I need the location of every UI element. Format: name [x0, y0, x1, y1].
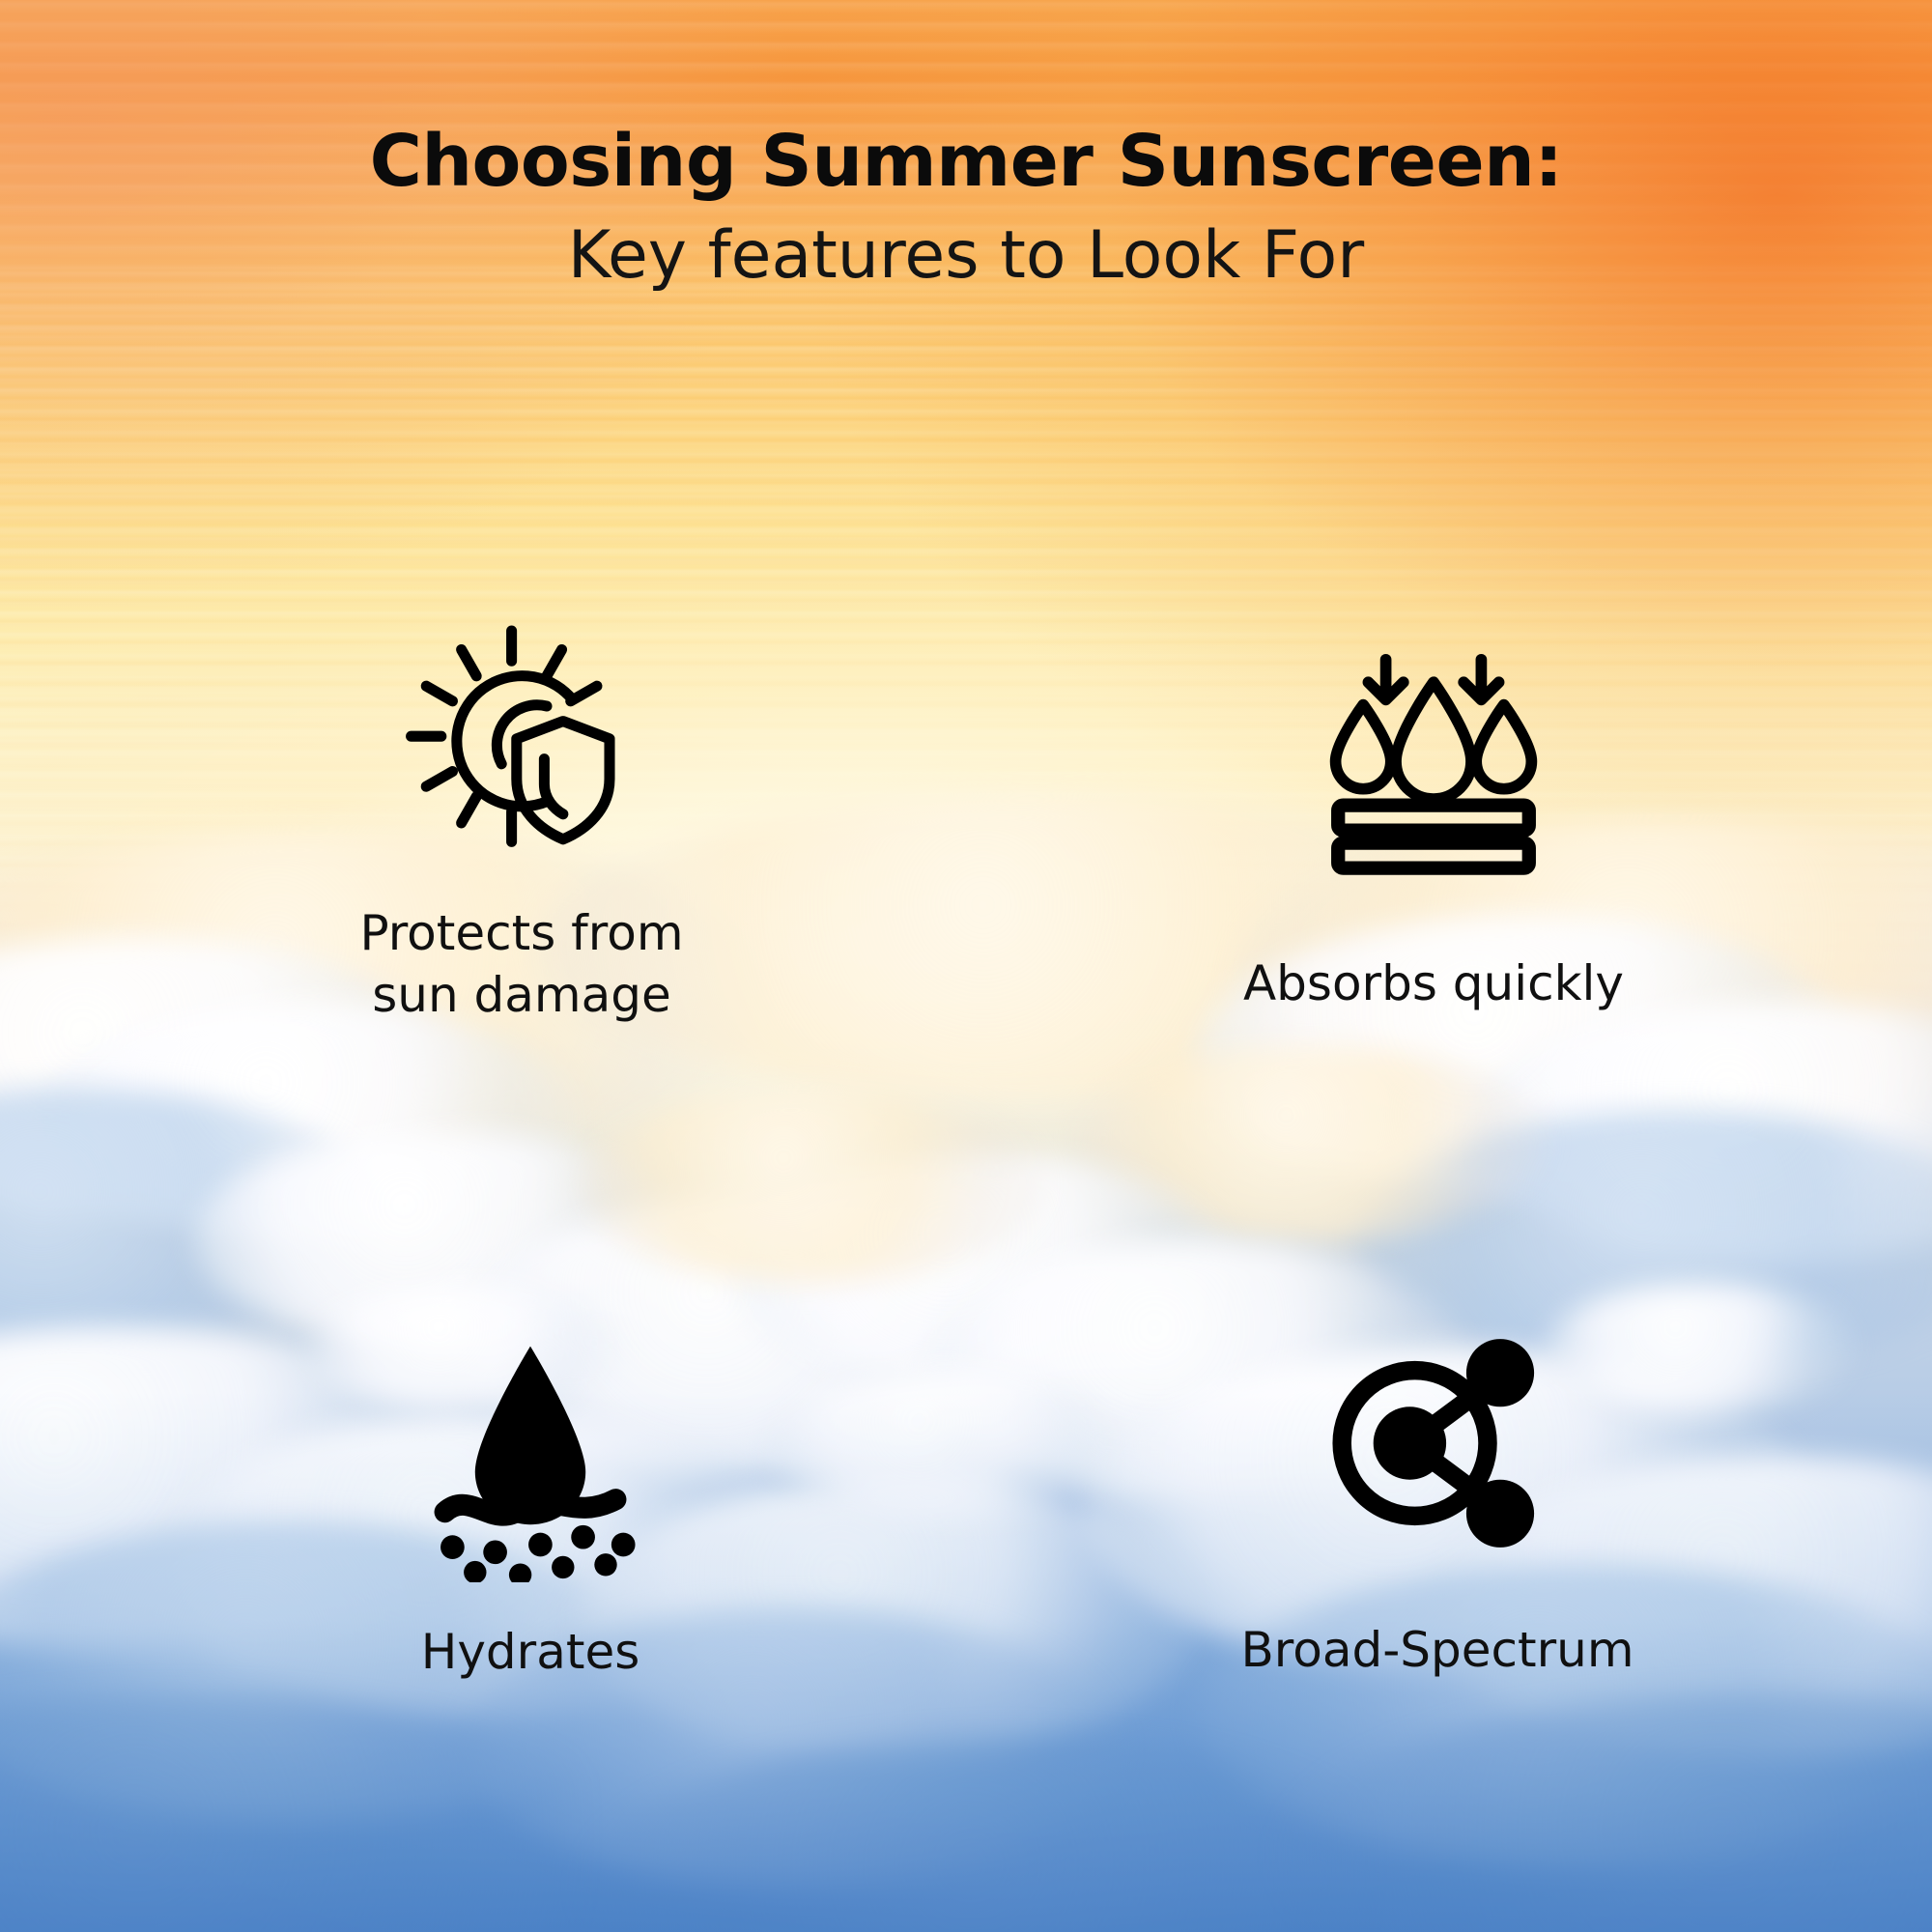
- poster-canvas: Choosing Summer Sunscreen: Key features …: [0, 0, 1932, 1932]
- feature-broad-spectrum: Broad-Spectrum: [985, 1217, 1845, 1816]
- droplet-skin-hydration-icon: [405, 1331, 656, 1582]
- droplets-absorb-icon: [1308, 639, 1559, 891]
- heading-block: Choosing Summer Sunscreen: Key features …: [0, 124, 1932, 293]
- feature-protects-from-sun-damage: Protects from sun damage: [87, 618, 947, 1217]
- feature-label: Protects from sun damage: [359, 902, 683, 1026]
- page-subtitle: Key features to Look For: [0, 220, 1932, 293]
- feature-absorbs-quickly: Absorbs quickly: [985, 618, 1845, 1217]
- feature-label: Hydrates: [421, 1621, 640, 1683]
- molecule-icon: [1312, 1318, 1563, 1569]
- poster-content: Choosing Summer Sunscreen: Key features …: [0, 0, 1932, 1932]
- feature-hydrates: Hydrates: [87, 1217, 947, 1816]
- page-title: Choosing Summer Sunscreen:: [0, 124, 1932, 199]
- feature-grid: Protects from sun damage: [87, 618, 1845, 1816]
- feature-label: Broad-Spectrum: [1240, 1619, 1634, 1681]
- feature-label: Absorbs quickly: [1243, 952, 1624, 1014]
- sun-shield-icon: [396, 618, 647, 869]
